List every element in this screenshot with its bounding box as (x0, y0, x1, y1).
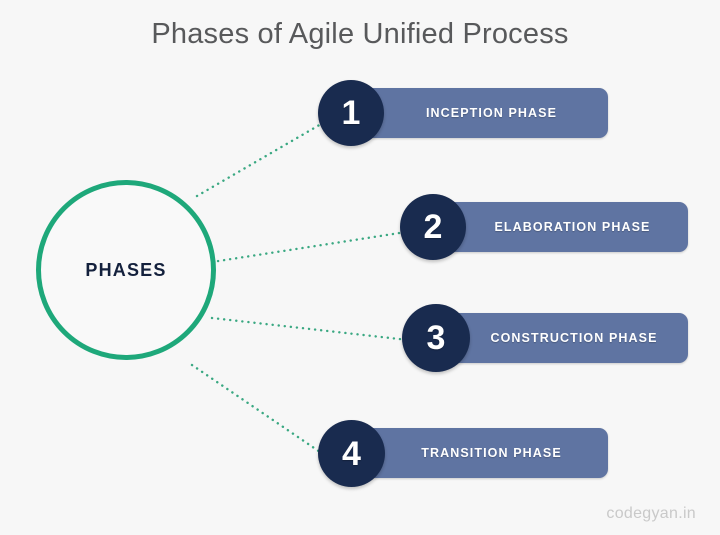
phase-badge-3[interactable]: 3 (402, 304, 470, 372)
phase-bar-3[interactable]: CONSTRUCTION PHASE (440, 313, 688, 363)
phase-label: INCEPTION PHASE (392, 105, 571, 122)
hub-label: PHASES (85, 260, 166, 281)
phase-badge-4[interactable]: 4 (318, 420, 385, 487)
phase-number: 4 (342, 437, 361, 471)
phase-label: CONSTRUCTION PHASE (456, 330, 671, 347)
diagram-canvas: Phases of Agile Unified Process PHASES I… (0, 0, 720, 535)
phase-bar-1[interactable]: INCEPTION PHASE (355, 88, 608, 138)
connector-phase-4 (192, 365, 320, 452)
hub-circle: PHASES (36, 180, 216, 360)
phase-number: 1 (342, 96, 361, 130)
phase-bar-4[interactable]: TRANSITION PHASE (355, 428, 608, 478)
connector-phase-3 (212, 318, 408, 340)
phase-badge-1[interactable]: 1 (318, 80, 384, 146)
phase-bar-2[interactable]: ELABORATION PHASE (437, 202, 688, 252)
watermark: codegyan.in (606, 505, 696, 523)
phase-number: 2 (424, 210, 443, 244)
phase-label: TRANSITION PHASE (387, 445, 576, 462)
phase-number: 3 (427, 321, 446, 355)
phase-badge-2[interactable]: 2 (400, 194, 466, 260)
connector-phase-1 (197, 120, 328, 196)
phase-label: ELABORATION PHASE (461, 219, 665, 236)
connector-phase-2 (212, 232, 406, 262)
